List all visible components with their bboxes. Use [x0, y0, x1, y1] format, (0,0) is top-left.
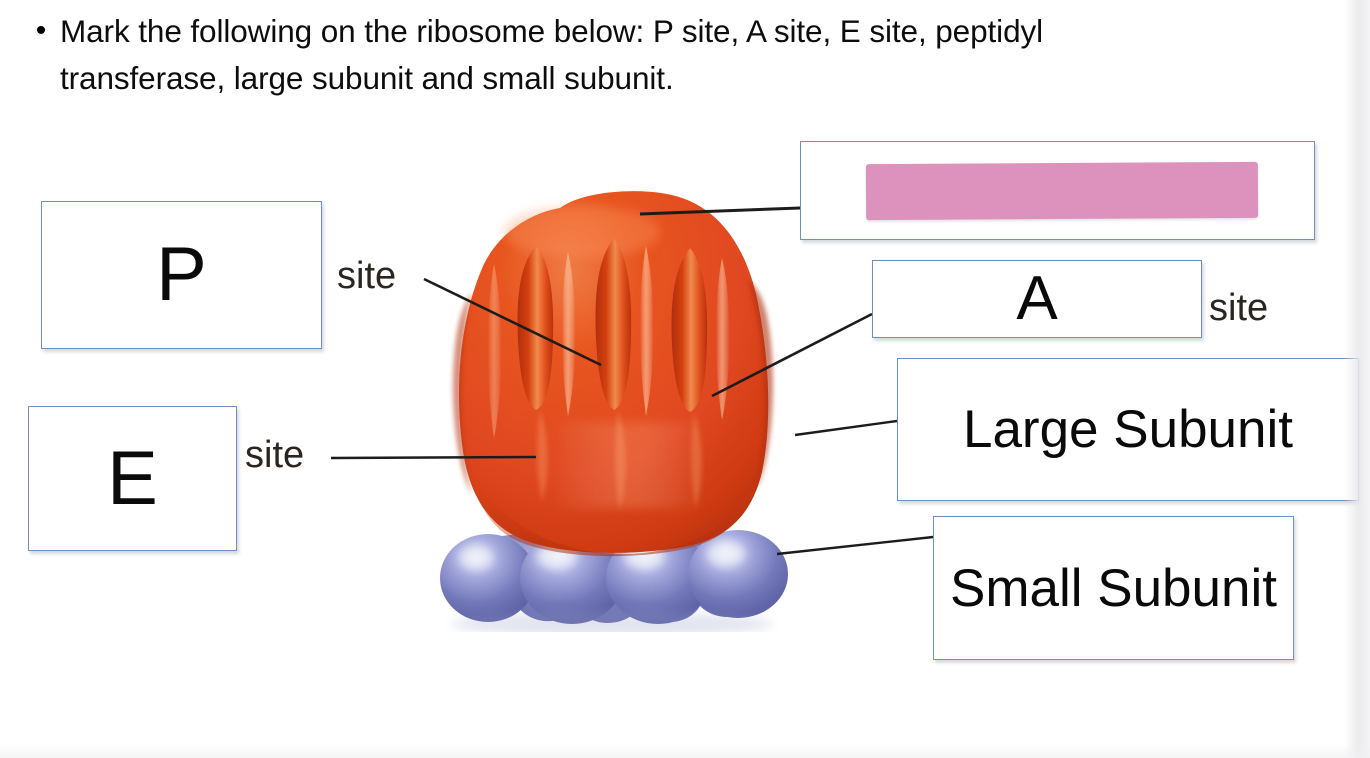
answer-box-small-subunit-label: Small Subunit	[934, 562, 1293, 615]
large-subunit-shape	[453, 191, 773, 556]
bottom-page-edge-shadow	[0, 744, 1370, 758]
answer-box-a-site[interactable]: A	[872, 260, 1202, 338]
bullet-point-icon: •	[22, 8, 60, 54]
pink-highlighter-mark	[865, 161, 1257, 219]
answer-box-large-subunit[interactable]: Large Subunit	[897, 358, 1359, 501]
answer-box-e-site-label: E	[29, 441, 236, 517]
slide-canvas: • Mark the following on the ribosome bel…	[0, 0, 1370, 758]
answer-box-large-subunit-label: Large Subunit	[898, 403, 1358, 456]
answer-box-p-site-label: P	[42, 237, 321, 313]
answer-box-small-subunit[interactable]: Small Subunit	[933, 516, 1294, 660]
instruction-text: Mark the following on the ribosome below…	[60, 8, 1215, 102]
p-site-word-label: site	[337, 256, 396, 296]
answer-box-a-site-label: A	[873, 268, 1201, 330]
answer-box-peptidyl-transferase[interactable]	[800, 141, 1315, 240]
answer-box-p-site[interactable]: P	[41, 201, 322, 349]
ribosome-illustration	[432, 172, 832, 632]
answer-box-e-site[interactable]: E	[28, 406, 237, 551]
e-site-word-label: site	[245, 435, 304, 475]
bullet-paragraph: • Mark the following on the ribosome bel…	[22, 8, 1282, 102]
a-site-word-label: site	[1209, 288, 1268, 328]
